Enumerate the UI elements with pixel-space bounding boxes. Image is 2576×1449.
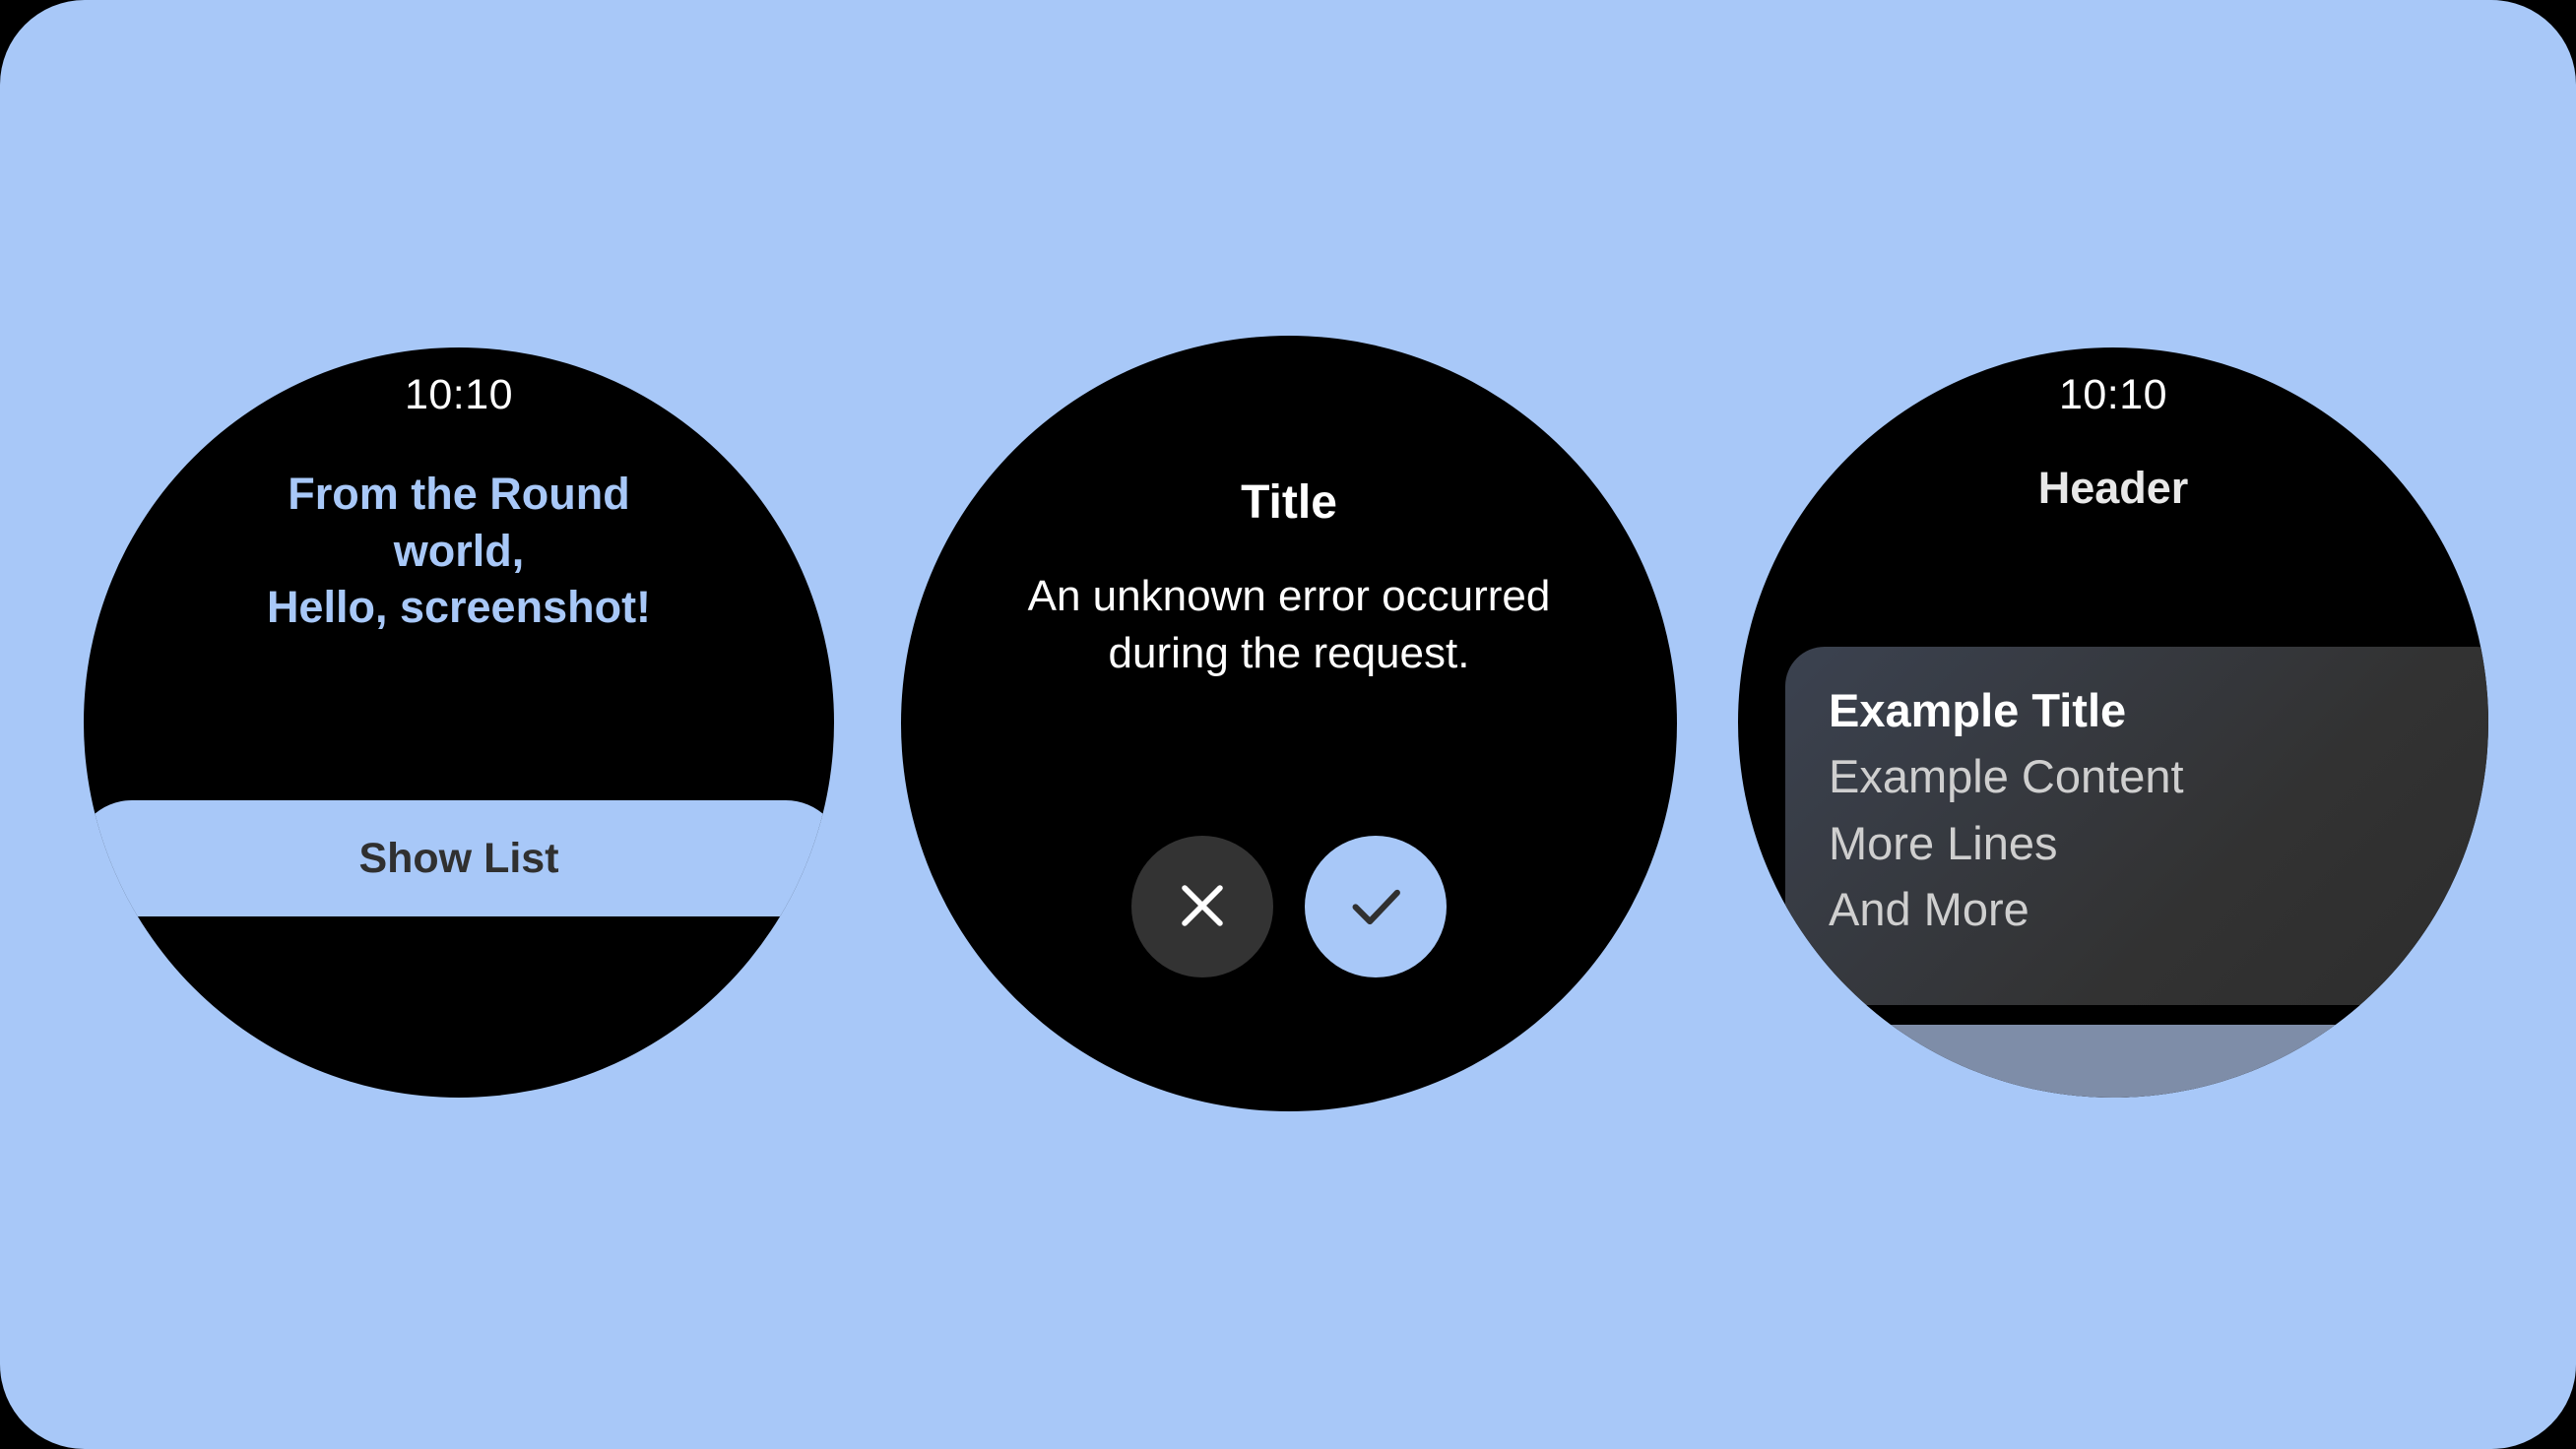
hello-message-line-2: world, [183,523,735,580]
watch-face-round-alert: Title An unknown error occurred during t… [901,336,1677,1111]
list-header: Header [2038,466,2189,510]
show-list-button-label: Show List [358,835,558,883]
alert-action-row [901,836,1677,977]
show-list-button[interactable]: Show List [84,800,834,916]
watch-screen-alert: Title An unknown error occurred during t… [901,336,1677,1111]
card-line-2: More Lines [1829,819,2488,867]
dismiss-button[interactable] [1131,836,1273,977]
confirm-button[interactable] [1305,836,1447,977]
card-title: Example Title [1829,686,2488,734]
card-line-3: And More [1829,885,2488,933]
check-icon [1341,871,1410,943]
watch-foot-strip [1738,1025,2488,1098]
alert-title: Title [1241,479,1337,527]
screenshot-canvas: 10:10 From the Round world, Hello, scree… [0,0,2576,1449]
alert-message-line-1: An unknown error occurred [1028,572,1551,620]
watch-face-round-hello: 10:10 From the Round world, Hello, scree… [84,347,834,1098]
card-bottom-divider [1738,1005,2488,1025]
alert-message-line-2: during the request. [1109,629,1470,677]
status-time-card: 10:10 [2059,374,2167,416]
card-line-1: Example Content [1829,752,2488,800]
status-time-hello: 10:10 [405,374,513,416]
hello-message-line-3: Hello, screenshot! [183,579,735,636]
hello-message-line-1: From the Round [183,466,735,523]
close-x-icon [1170,873,1235,941]
watch-screen-card: 10:10 Header Example Title Example Conte… [1738,347,2488,1098]
watch-screen-hello: 10:10 From the Round world, Hello, scree… [84,347,834,1098]
watch-face-round-card: 10:10 Header Example Title Example Conte… [1738,347,2488,1098]
alert-message: An unknown error occurred during the req… [969,568,1609,682]
hello-message: From the Round world, Hello, screenshot! [183,466,735,636]
